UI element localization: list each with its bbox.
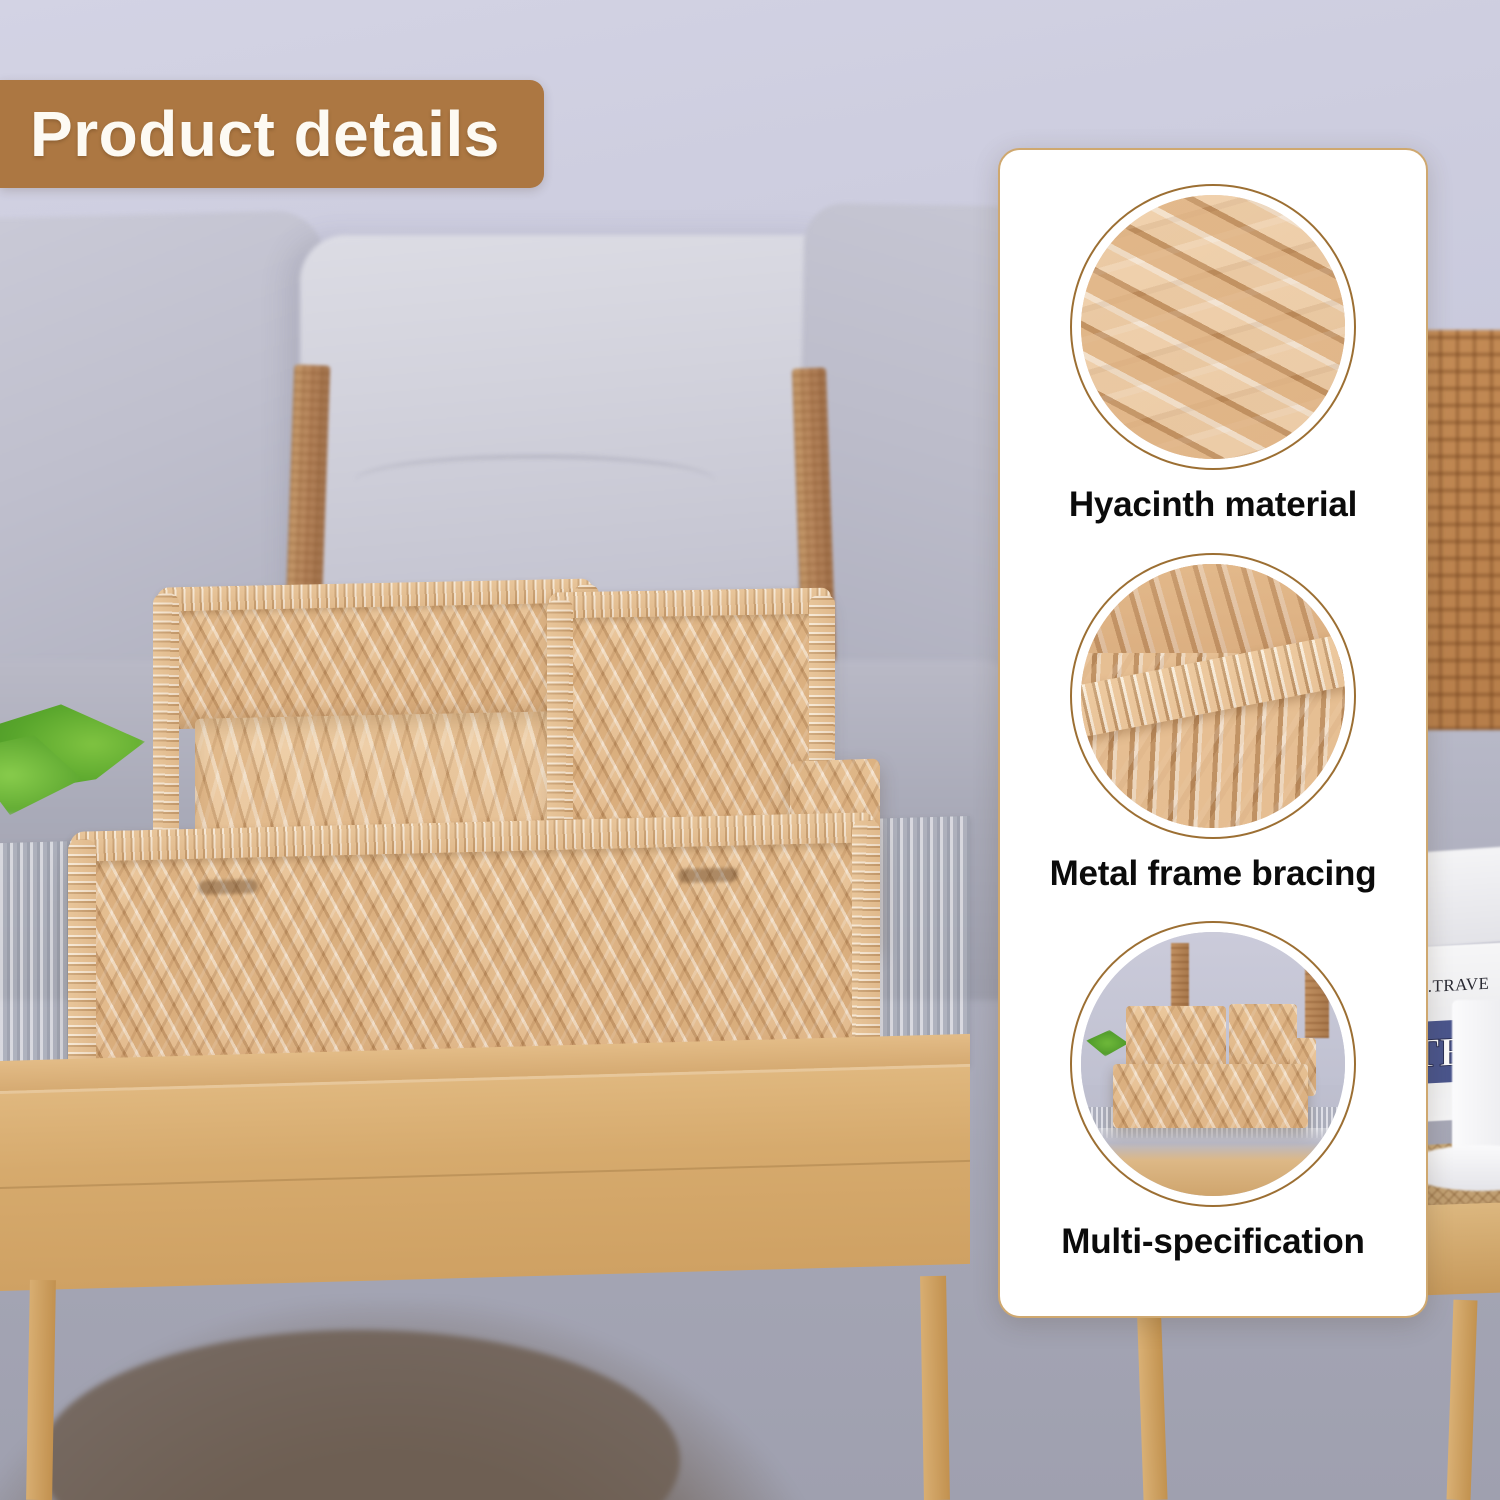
basket-set-photo-icon	[1081, 932, 1345, 1196]
feature-label-1: Hyacinth material	[1069, 486, 1357, 525]
basket-front-right-post	[852, 820, 880, 1071]
feature-highlights-card: Hyacinth material Metal frame bracing	[998, 148, 1428, 1318]
page-title: Product details	[30, 102, 500, 166]
basket-front-left-post	[68, 839, 96, 1090]
feature-circle-frame-1	[1070, 184, 1356, 470]
product-details-banner: Product details	[0, 80, 544, 188]
basket-rim-closeup-icon	[1081, 564, 1345, 828]
feature-item-metal-frame-bracing: Metal frame bracing	[1000, 553, 1426, 922]
feature-circle-frame-2	[1070, 553, 1356, 839]
table-leg-right	[920, 1276, 950, 1500]
basket-back-wall	[165, 591, 585, 730]
feature-circle-frame-3	[1070, 921, 1356, 1207]
feature-label-2: Metal frame bracing	[1050, 855, 1377, 894]
feature-item-hyacinth-material: Hyacinth material	[1000, 184, 1426, 553]
basket-small-rim	[549, 588, 831, 619]
handle-cutout-left	[198, 879, 258, 894]
table-leg-left	[26, 1280, 56, 1500]
hyacinth-weave-closeup-icon	[1081, 195, 1345, 459]
coffee-cup	[1452, 1000, 1500, 1160]
feature-item-multi-specification: Multi-specification	[1000, 921, 1426, 1290]
handle-cutout-right	[678, 868, 738, 883]
feature-label-3: Multi-specification	[1061, 1223, 1364, 1262]
product-detail-image: P.L.TRAVE TE	[0, 0, 1500, 1500]
table-apron	[0, 1064, 970, 1292]
